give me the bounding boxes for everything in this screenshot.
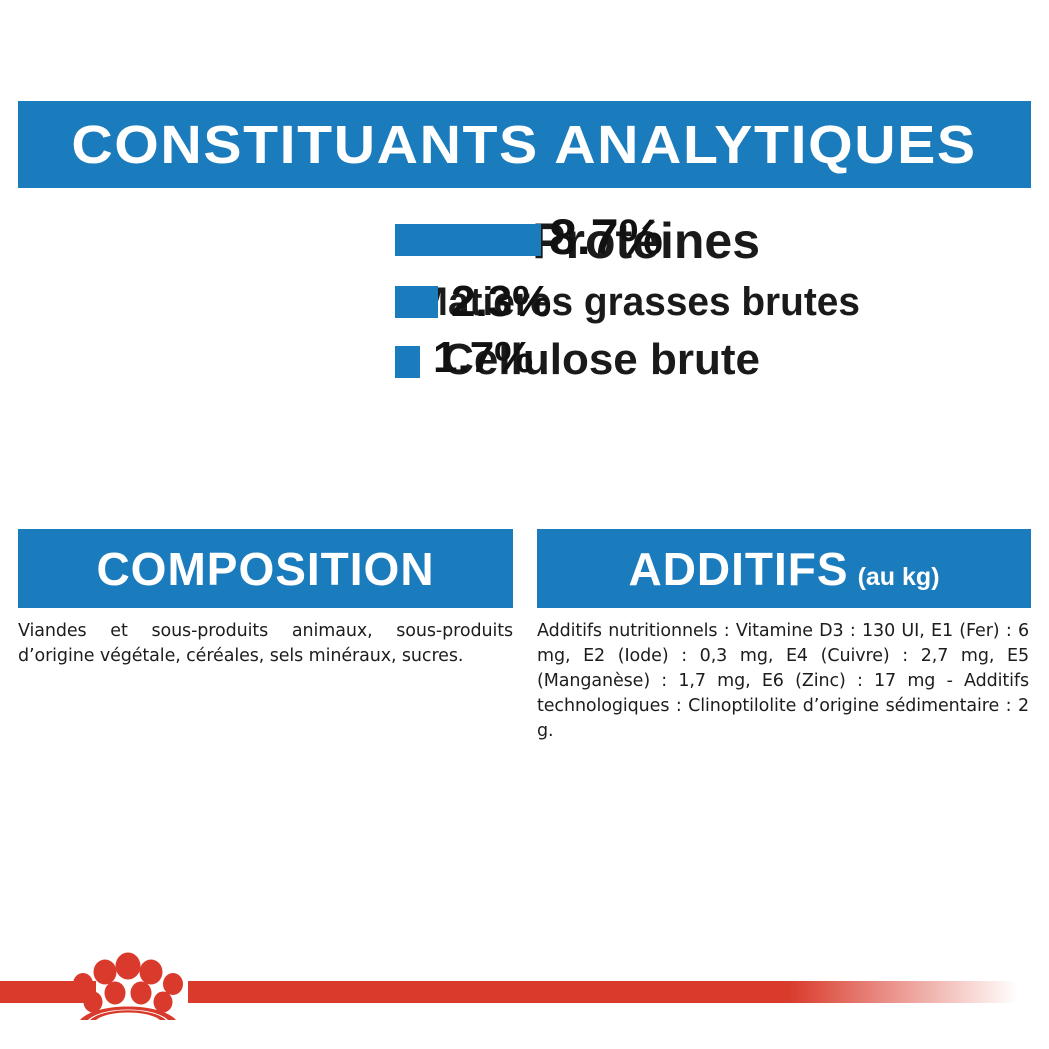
royal-canin-crown-logo	[70, 944, 186, 1020]
table-row: Matières grasses brutes 2.3%	[0, 272, 760, 330]
table-row: Protéines 8.7%	[0, 206, 760, 272]
footer-rule-right	[188, 981, 1049, 1003]
analytical-constituents-banner: CONSTITUANTS ANALYTIQUES	[18, 101, 1031, 188]
nutrient-bar-crude-fibre	[395, 346, 420, 378]
analytical-constituents-title: CONSTITUANTS ANALYTIQUES	[72, 118, 977, 172]
composition-title: COMPOSITION	[96, 546, 434, 592]
analytical-constituents-table: Protéines 8.7% Matières grasses brutes 2…	[0, 206, 760, 388]
footer	[0, 930, 1049, 1049]
nutrient-value-proteins: 8.7%	[549, 212, 663, 262]
table-row: Cellulose brute 1.7%	[0, 330, 760, 388]
nutrient-value-crude-fibre: 1.7%	[433, 336, 533, 380]
additives-text: Additifs nutritionnels : Vitamine D3 : 1…	[537, 619, 1029, 744]
nutrient-bar-proteins	[395, 224, 541, 256]
additives-banner: ADDITIFS (au kg)	[537, 529, 1031, 608]
nutrient-value-crude-fat: 2.3%	[451, 280, 551, 324]
additives-title-unit: (au kg)	[858, 565, 940, 590]
additives-title: ADDITIFS (au kg)	[628, 546, 939, 592]
additives-title-main: ADDITIFS	[628, 546, 848, 592]
composition-text: Viandes et sous-produits animaux, sous-p…	[18, 619, 513, 669]
composition-banner: COMPOSITION	[18, 529, 513, 608]
nutrient-bar-crude-fat	[395, 286, 438, 318]
